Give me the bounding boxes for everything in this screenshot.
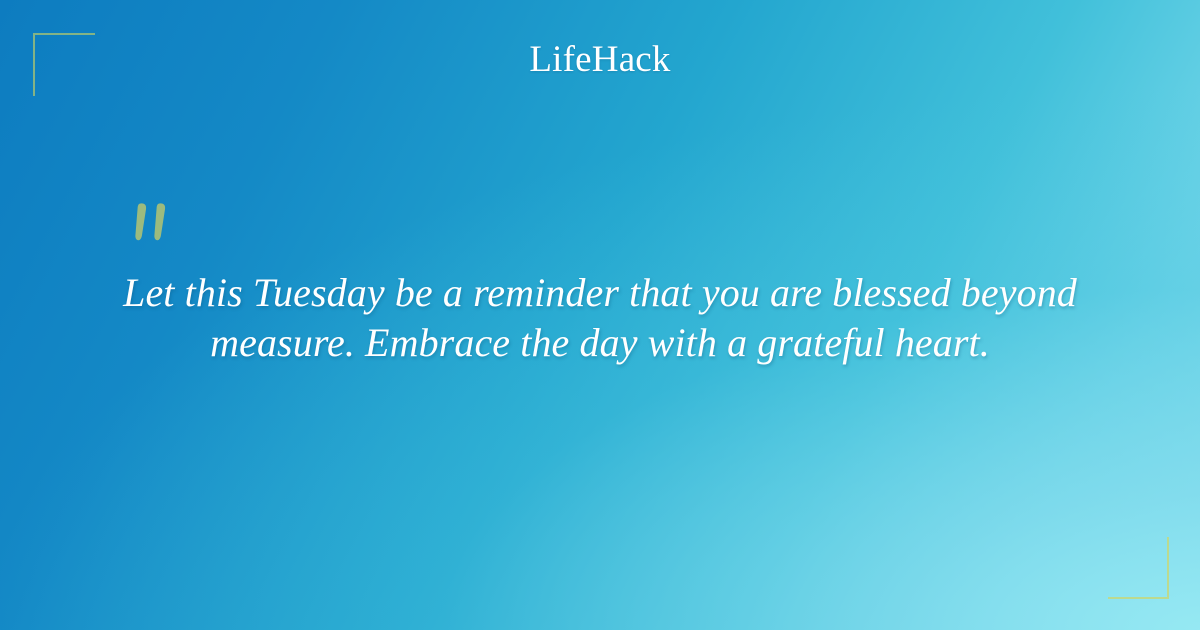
quote-text: Let this Tuesday be a reminder that you … bbox=[100, 268, 1100, 368]
brand-logo: LifeHack bbox=[0, 38, 1200, 82]
quote-block: Let this Tuesday be a reminder that you … bbox=[100, 268, 1100, 368]
quote-card: LifeHack Let this Tuesday be a reminder … bbox=[0, 0, 1200, 630]
quote-mark-icon bbox=[132, 202, 176, 244]
corner-bracket-bottom-right-icon bbox=[1108, 537, 1169, 599]
